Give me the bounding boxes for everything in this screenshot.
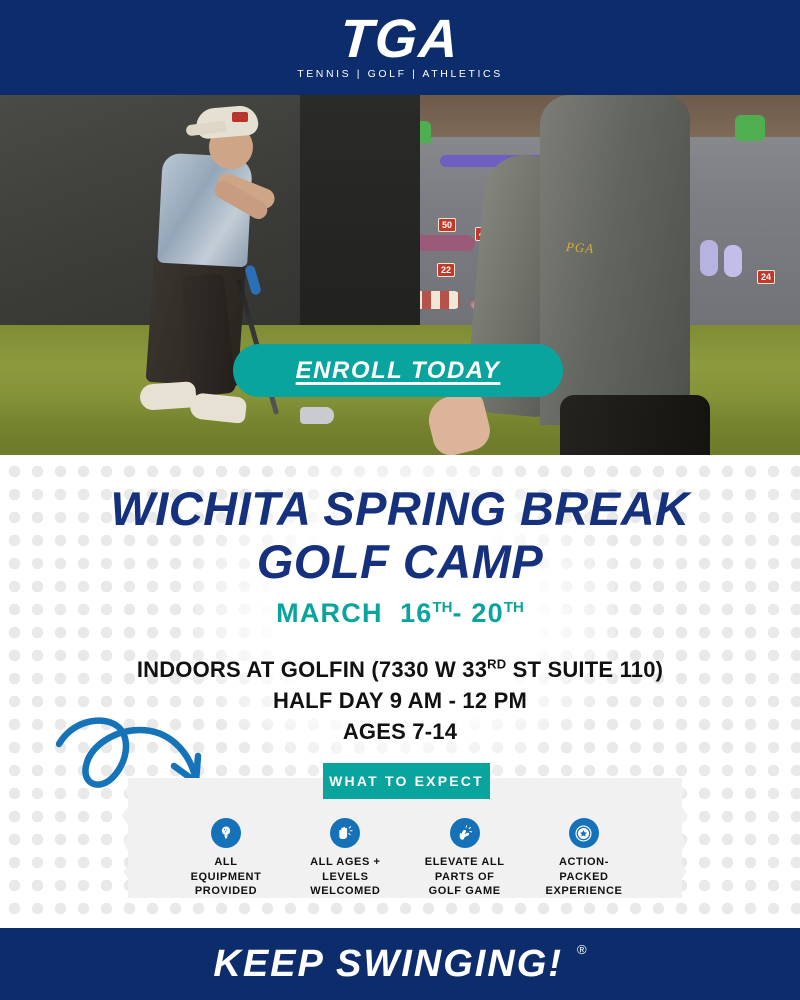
sim-target-label: 50 xyxy=(438,218,456,232)
boy-shirt xyxy=(157,153,253,268)
page-title: WICHITA SPRING BREAK GOLF CAMP xyxy=(0,483,800,588)
feature-item: ALL AGES + LEVELS WELCOMED xyxy=(289,818,401,899)
enroll-today-label: ENROLL TODAY xyxy=(296,357,501,385)
camp-location-prefix: INDOORS AT GOLFIN (7330 W 33 xyxy=(137,657,487,682)
footer-bar: KEEP SWINGING! ® xyxy=(0,928,800,1000)
feature-label: ELEVATE ALL PARTS OF GOLF GAME xyxy=(425,855,505,899)
waving-hand-icon xyxy=(330,818,360,848)
feature-list: ALL EQUIPMENT PROVIDED ALL AGES + LEVELS… xyxy=(170,818,640,899)
camp-date-start-suffix: TH xyxy=(433,599,453,616)
golf-club-head xyxy=(300,407,334,424)
feature-label: ALL EQUIPMENT PROVIDED xyxy=(191,855,262,899)
camp-date-separator: - xyxy=(453,598,463,628)
sim-target-label: 22 xyxy=(437,263,455,277)
hero-photo: 130 50 40 30 22 17 24 24 0 1 E6 ! ··· PG… xyxy=(0,95,800,455)
camp-dates: MARCH 16TH- 20TH xyxy=(0,598,800,629)
feature-item: ACTION- PACKED EXPERIENCE xyxy=(528,818,640,899)
feature-label: ALL AGES + LEVELS WELCOMED xyxy=(310,855,381,899)
camp-details: INDOORS AT GOLFIN (7330 W 33RD ST SUITE … xyxy=(0,654,800,748)
registered-trademark-icon: ® xyxy=(577,942,587,957)
header-bar: TGA TENNIS | GOLF | ATHLETICS xyxy=(0,0,800,95)
flyer-page: TGA TENNIS | GOLF | ATHLETICS 130 50 40 … xyxy=(0,0,800,1000)
camp-date-end-day: 20 xyxy=(471,598,503,628)
sim-prop-wall xyxy=(415,235,475,251)
sim-prop-pillar xyxy=(724,245,742,277)
boy-shoe xyxy=(139,381,197,411)
what-to-expect-label: WHAT TO EXPECT xyxy=(329,773,484,789)
pga-sleeve-logo: PGA xyxy=(565,239,594,257)
camp-location-ordinal: RD xyxy=(487,657,506,672)
sim-target-label: 24 xyxy=(757,270,775,284)
feature-item: ALL EQUIPMENT PROVIDED xyxy=(170,818,282,899)
camp-schedule: HALF DAY 9 AM - 12 PM xyxy=(0,685,800,716)
instructor-legs xyxy=(560,395,710,455)
footer-slogan: KEEP SWINGING! xyxy=(213,943,563,986)
camp-location-end: ST SUITE 110) xyxy=(506,657,663,682)
camp-date-start-day: 16 xyxy=(400,598,432,628)
sim-prop-bush xyxy=(735,115,765,141)
camp-date-month: MARCH xyxy=(276,598,383,628)
sim-prop-pillar xyxy=(700,240,718,276)
page-title-line-1: WICHITA SPRING BREAK xyxy=(0,483,800,536)
boy-cap-logo xyxy=(232,112,248,122)
enroll-today-button[interactable]: ENROLL TODAY xyxy=(233,344,563,397)
golf-ball-on-tee-icon xyxy=(211,818,241,848)
tga-logo-mark: TGA xyxy=(338,15,461,65)
camp-ages: AGES 7-14 xyxy=(0,716,800,747)
camp-location: INDOORS AT GOLFIN (7330 W 33RD ST SUITE … xyxy=(0,654,800,685)
boy-cap xyxy=(195,104,259,139)
what-to-expect-badge: WHAT TO EXPECT xyxy=(323,763,490,799)
feature-label: ACTION- PACKED EXPERIENCE xyxy=(546,855,623,899)
page-title-line-2: GOLF CAMP xyxy=(0,536,800,589)
star-badge-icon xyxy=(569,818,599,848)
feature-item: ELEVATE ALL PARTS OF GOLF GAME xyxy=(409,818,521,899)
tga-logo-tagline: TENNIS | GOLF | ATHLETICS xyxy=(297,68,503,80)
snapping-fingers-icon xyxy=(450,818,480,848)
camp-date-end-suffix: TH xyxy=(504,599,524,616)
